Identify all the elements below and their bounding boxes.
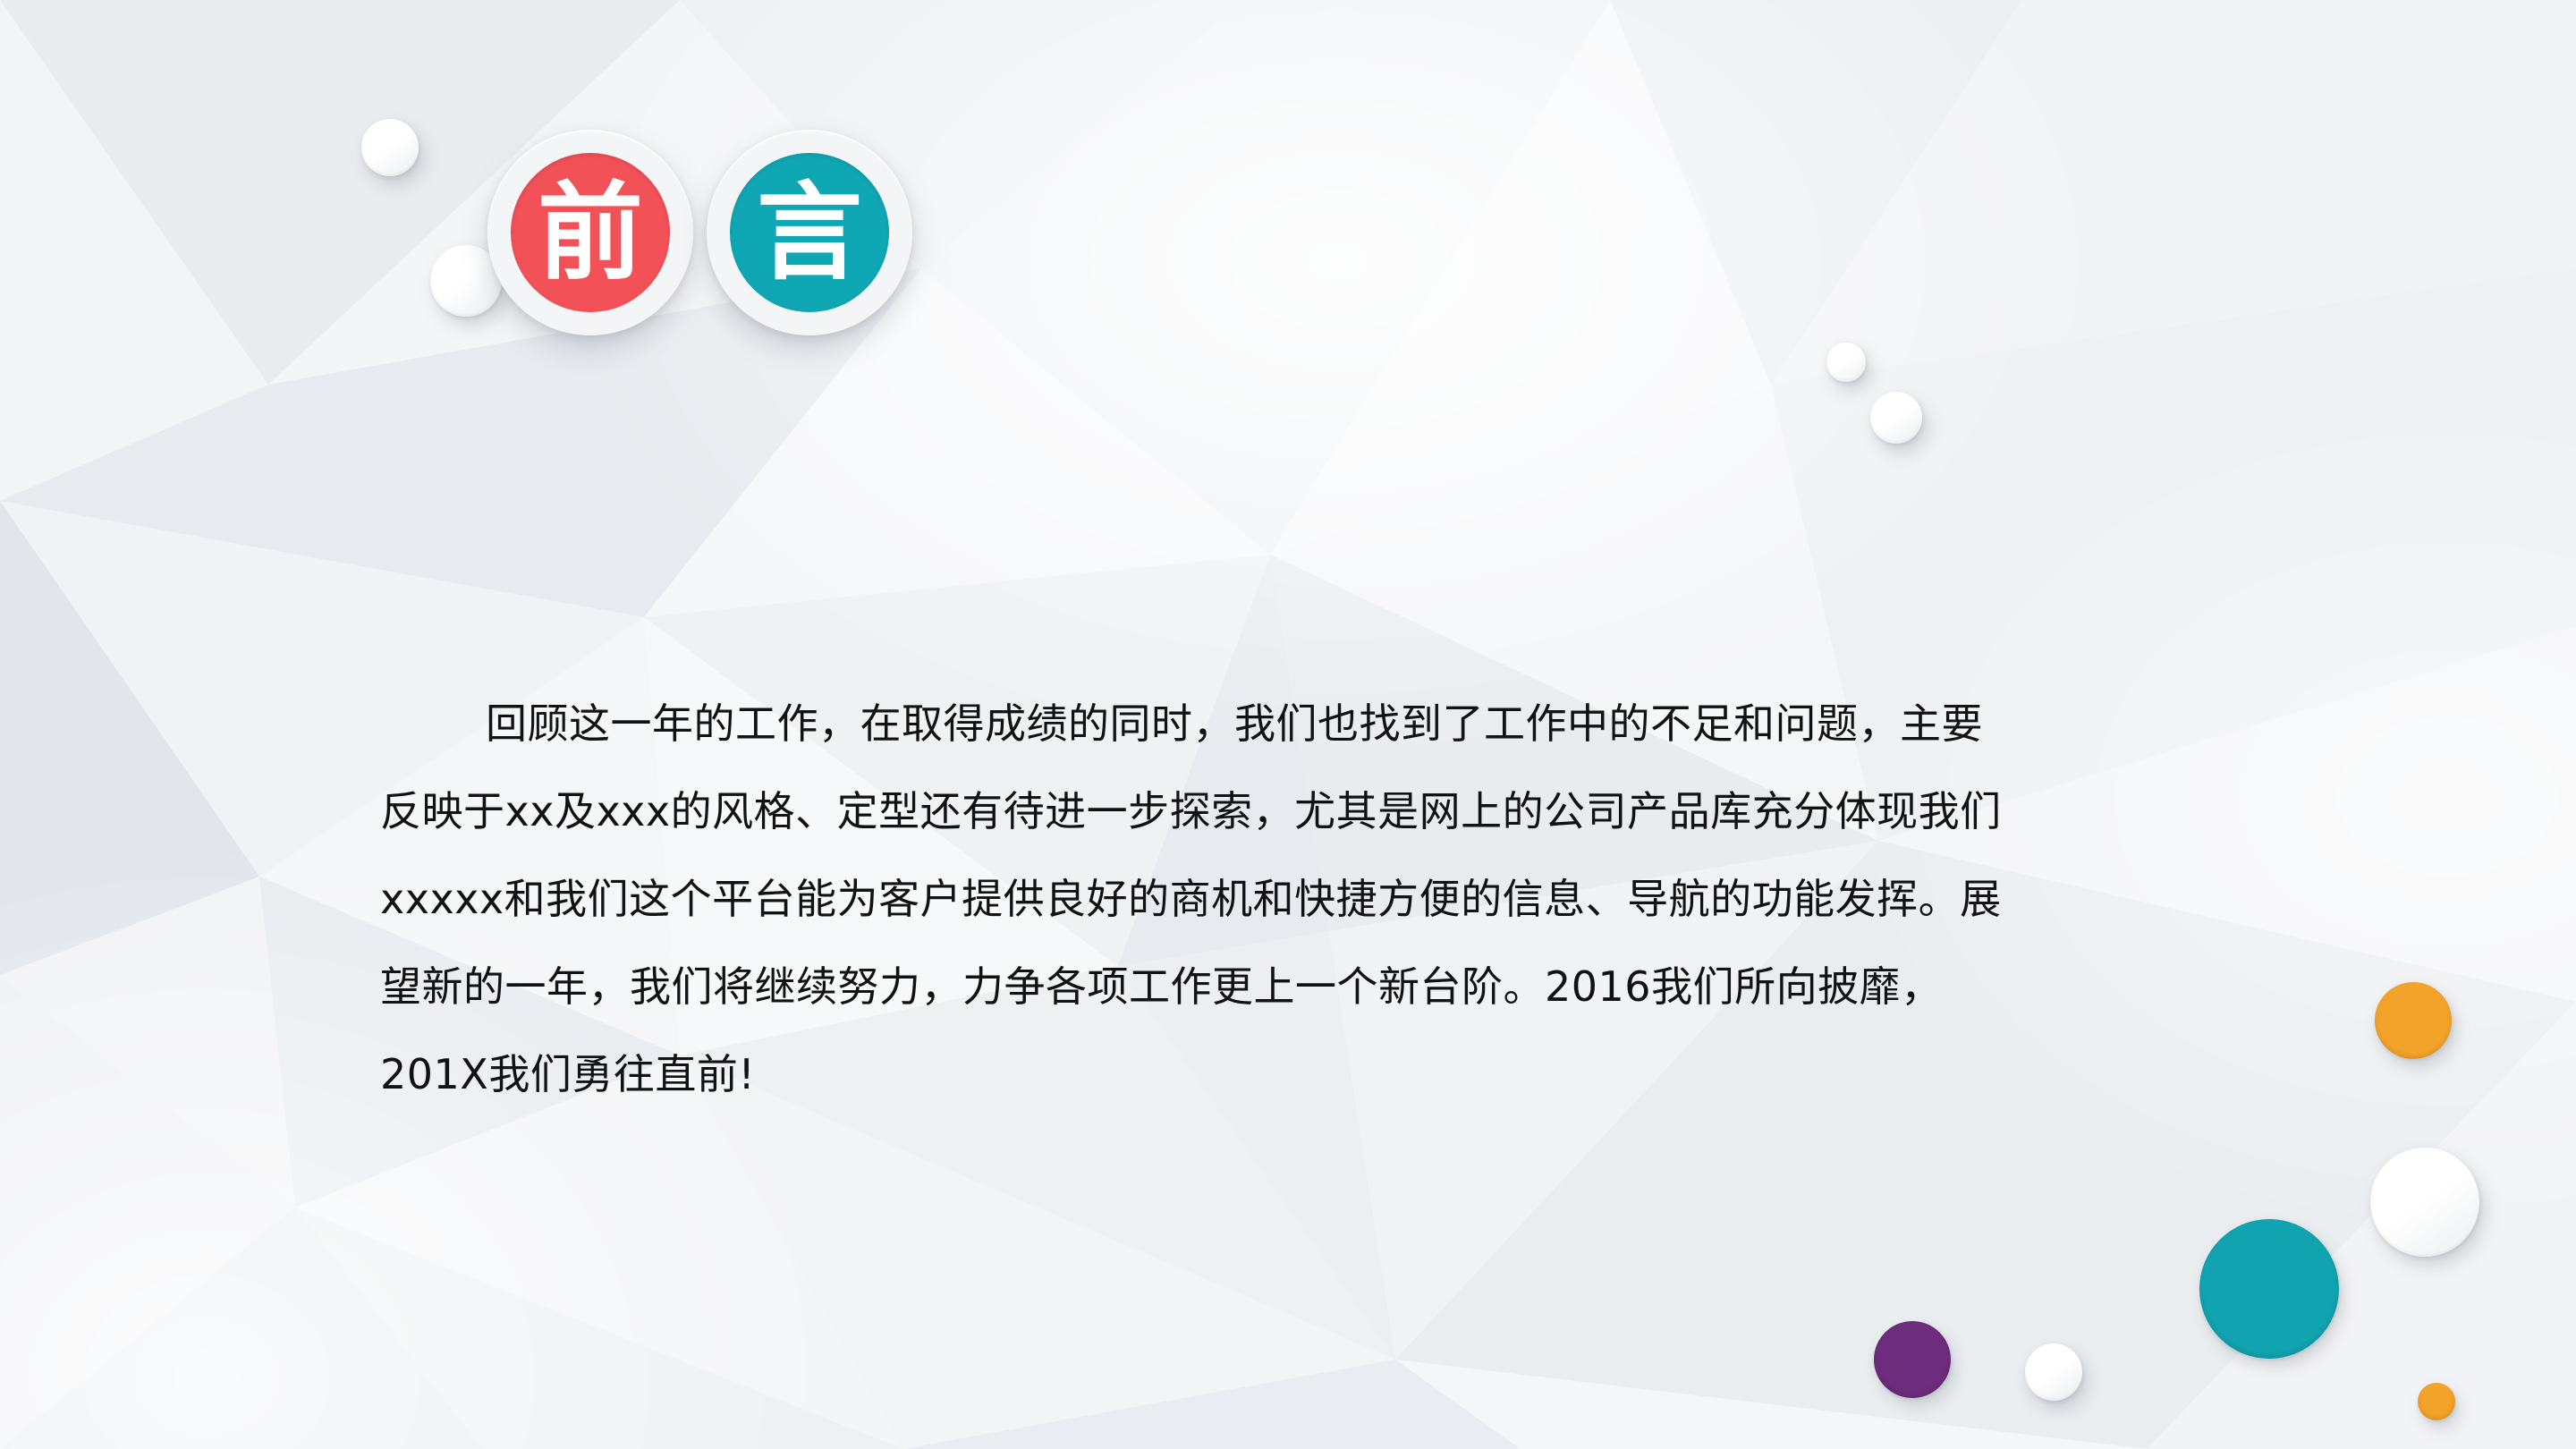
body-line-1: 回顾这一年的工作，在取得成绩的同时，我们也找到了工作中的不足和问题，主要	[380, 680, 2169, 767]
badge-qian: 前	[487, 130, 693, 335]
body-line-2: 反映于xx及xxx的风格、定型还有待进一步探索，尤其是网上的公司产品库充分体现我…	[380, 767, 2169, 855]
body-line-3: xxxxx和我们这个平台能为客户提供良好的商机和快捷方便的信息、导航的功能发挥。…	[380, 855, 2169, 943]
badge-qian-character: 前	[511, 153, 670, 312]
body-line-5: 201X我们勇往直前!	[380, 1030, 2169, 1118]
body-paragraph: 回顾这一年的工作，在取得成绩的同时，我们也找到了工作中的不足和问题，主要 反映于…	[380, 680, 2169, 1118]
slide-root: 前 言 回顾这一年的工作，在取得成绩的同时，我们也找到了工作中的不足和问题，主要…	[0, 0, 2576, 1449]
body-line-4: 望新的一年，我们将继续努力，力争各项工作更上一个新台阶。2016我们所向披靡，	[380, 943, 2169, 1030]
badge-yan: 言	[707, 130, 912, 335]
badge-yan-character: 言	[730, 153, 889, 312]
